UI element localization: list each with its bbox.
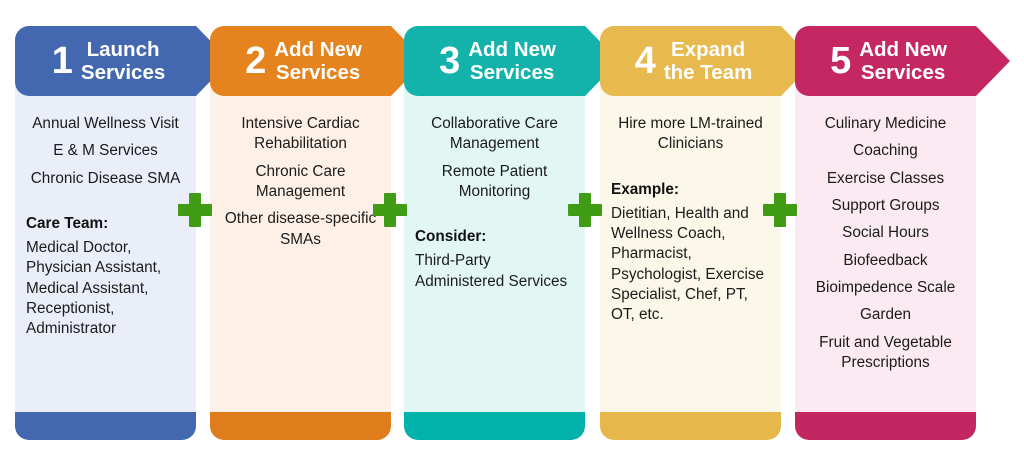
step-title-line1: Add New [859, 38, 947, 61]
step-title-line1: Expand [664, 38, 752, 61]
step-header-1: 1LaunchServices [15, 26, 231, 96]
step-header-2: 2Add NewServices [210, 26, 426, 96]
content-item: Third-Party Administered Services [415, 251, 574, 292]
step-header-4: 4Expandthe Team [600, 26, 816, 96]
content-item: Coaching [806, 141, 965, 161]
step-number: 3 [439, 42, 459, 80]
step-content-5: Culinary MedicineCoachingExercise Classe… [795, 96, 976, 440]
content-item: Annual Wellness Visit [26, 114, 185, 134]
step-title-line2: Services [81, 61, 165, 84]
step-title: LaunchServices [81, 38, 165, 85]
step-content-2: Intensive Cardiac RehabilitationChronic … [210, 96, 391, 440]
step-card-2: 2Add NewServicesIntensive Cardiac Rehabi… [210, 26, 391, 440]
content-item: Medical Doctor, Physician Assistant, Med… [26, 238, 185, 340]
content-item: Social Hours [806, 223, 965, 243]
plus-icon [373, 193, 407, 227]
content-item: Garden [806, 305, 965, 325]
plus-icon [568, 193, 602, 227]
content-item: Collaborative Care Management [415, 114, 574, 155]
content-subheading: Example: [611, 181, 770, 199]
step-title-line2: Services [859, 61, 947, 84]
step-number: 2 [245, 42, 265, 80]
content-item: Biofeedback [806, 251, 965, 271]
content-item: Bioimpedence Scale [806, 278, 965, 298]
step-title-line2: Services [468, 61, 556, 84]
content-item: Culinary Medicine [806, 114, 965, 134]
step-number: 4 [635, 42, 655, 80]
header-content: 2Add NewServices [210, 26, 391, 96]
header-content: 5Add NewServices [795, 26, 976, 96]
step-header-5: 5Add NewServices [795, 26, 1011, 96]
step-title: Add NewServices [468, 38, 556, 85]
content-item: Support Groups [806, 196, 965, 216]
header-content: 4Expandthe Team [600, 26, 781, 96]
step-title-line1: Add New [274, 38, 362, 61]
step-title-line2: Services [274, 61, 362, 84]
content-item: Hire more LM-trained Clinicians [611, 114, 770, 155]
infographic-board: 1LaunchServicesAnnual Wellness VisitE & … [0, 0, 1024, 474]
content-item: Exercise Classes [806, 169, 965, 189]
content-item: Chronic Care Management [221, 162, 380, 203]
plus-icon [178, 193, 212, 227]
step-title: Add NewServices [859, 38, 947, 85]
step-title: Expandthe Team [664, 38, 752, 85]
step-card-3: 3Add NewServicesCollaborative Care Manag… [404, 26, 585, 440]
step-title-line2: the Team [664, 61, 752, 84]
plus-icon [763, 193, 797, 227]
step-card-4: 4Expandthe TeamHire more LM-trained Clin… [600, 26, 781, 440]
step-card-1: 1LaunchServicesAnnual Wellness VisitE & … [15, 26, 196, 440]
step-title-line1: Launch [81, 38, 165, 61]
step-card-5: 5Add NewServicesCulinary MedicineCoachin… [795, 26, 976, 440]
content-item: Fruit and Vegetable Prescriptions [806, 333, 965, 374]
header-content: 1LaunchServices [15, 26, 196, 96]
step-title: Add NewServices [274, 38, 362, 85]
content-item: E & M Services [26, 141, 185, 161]
header-content: 3Add NewServices [404, 26, 585, 96]
content-item: Other disease-specific SMAs [221, 209, 380, 250]
step-content-3: Collaborative Care ManagementRemote Pati… [404, 96, 585, 440]
content-spacer [26, 189, 185, 215]
content-subheading: Care Team: [26, 215, 185, 233]
content-spacer [415, 202, 574, 228]
content-item: Intensive Cardiac Rehabilitation [221, 114, 380, 155]
step-number: 5 [830, 42, 850, 80]
content-spacer [611, 155, 770, 181]
step-content-4: Hire more LM-trained CliniciansExample:D… [600, 96, 781, 440]
content-item: Dietitian, Health and Wellness Coach, Ph… [611, 204, 770, 326]
step-content-1: Annual Wellness VisitE & M ServicesChron… [15, 96, 196, 440]
content-item: Chronic Disease SMA [26, 169, 185, 189]
content-subheading: Consider: [415, 228, 574, 246]
content-item: Remote Patient Monitoring [415, 162, 574, 203]
step-title-line1: Add New [468, 38, 556, 61]
step-header-3: 3Add NewServices [404, 26, 620, 96]
step-number: 1 [52, 42, 72, 80]
